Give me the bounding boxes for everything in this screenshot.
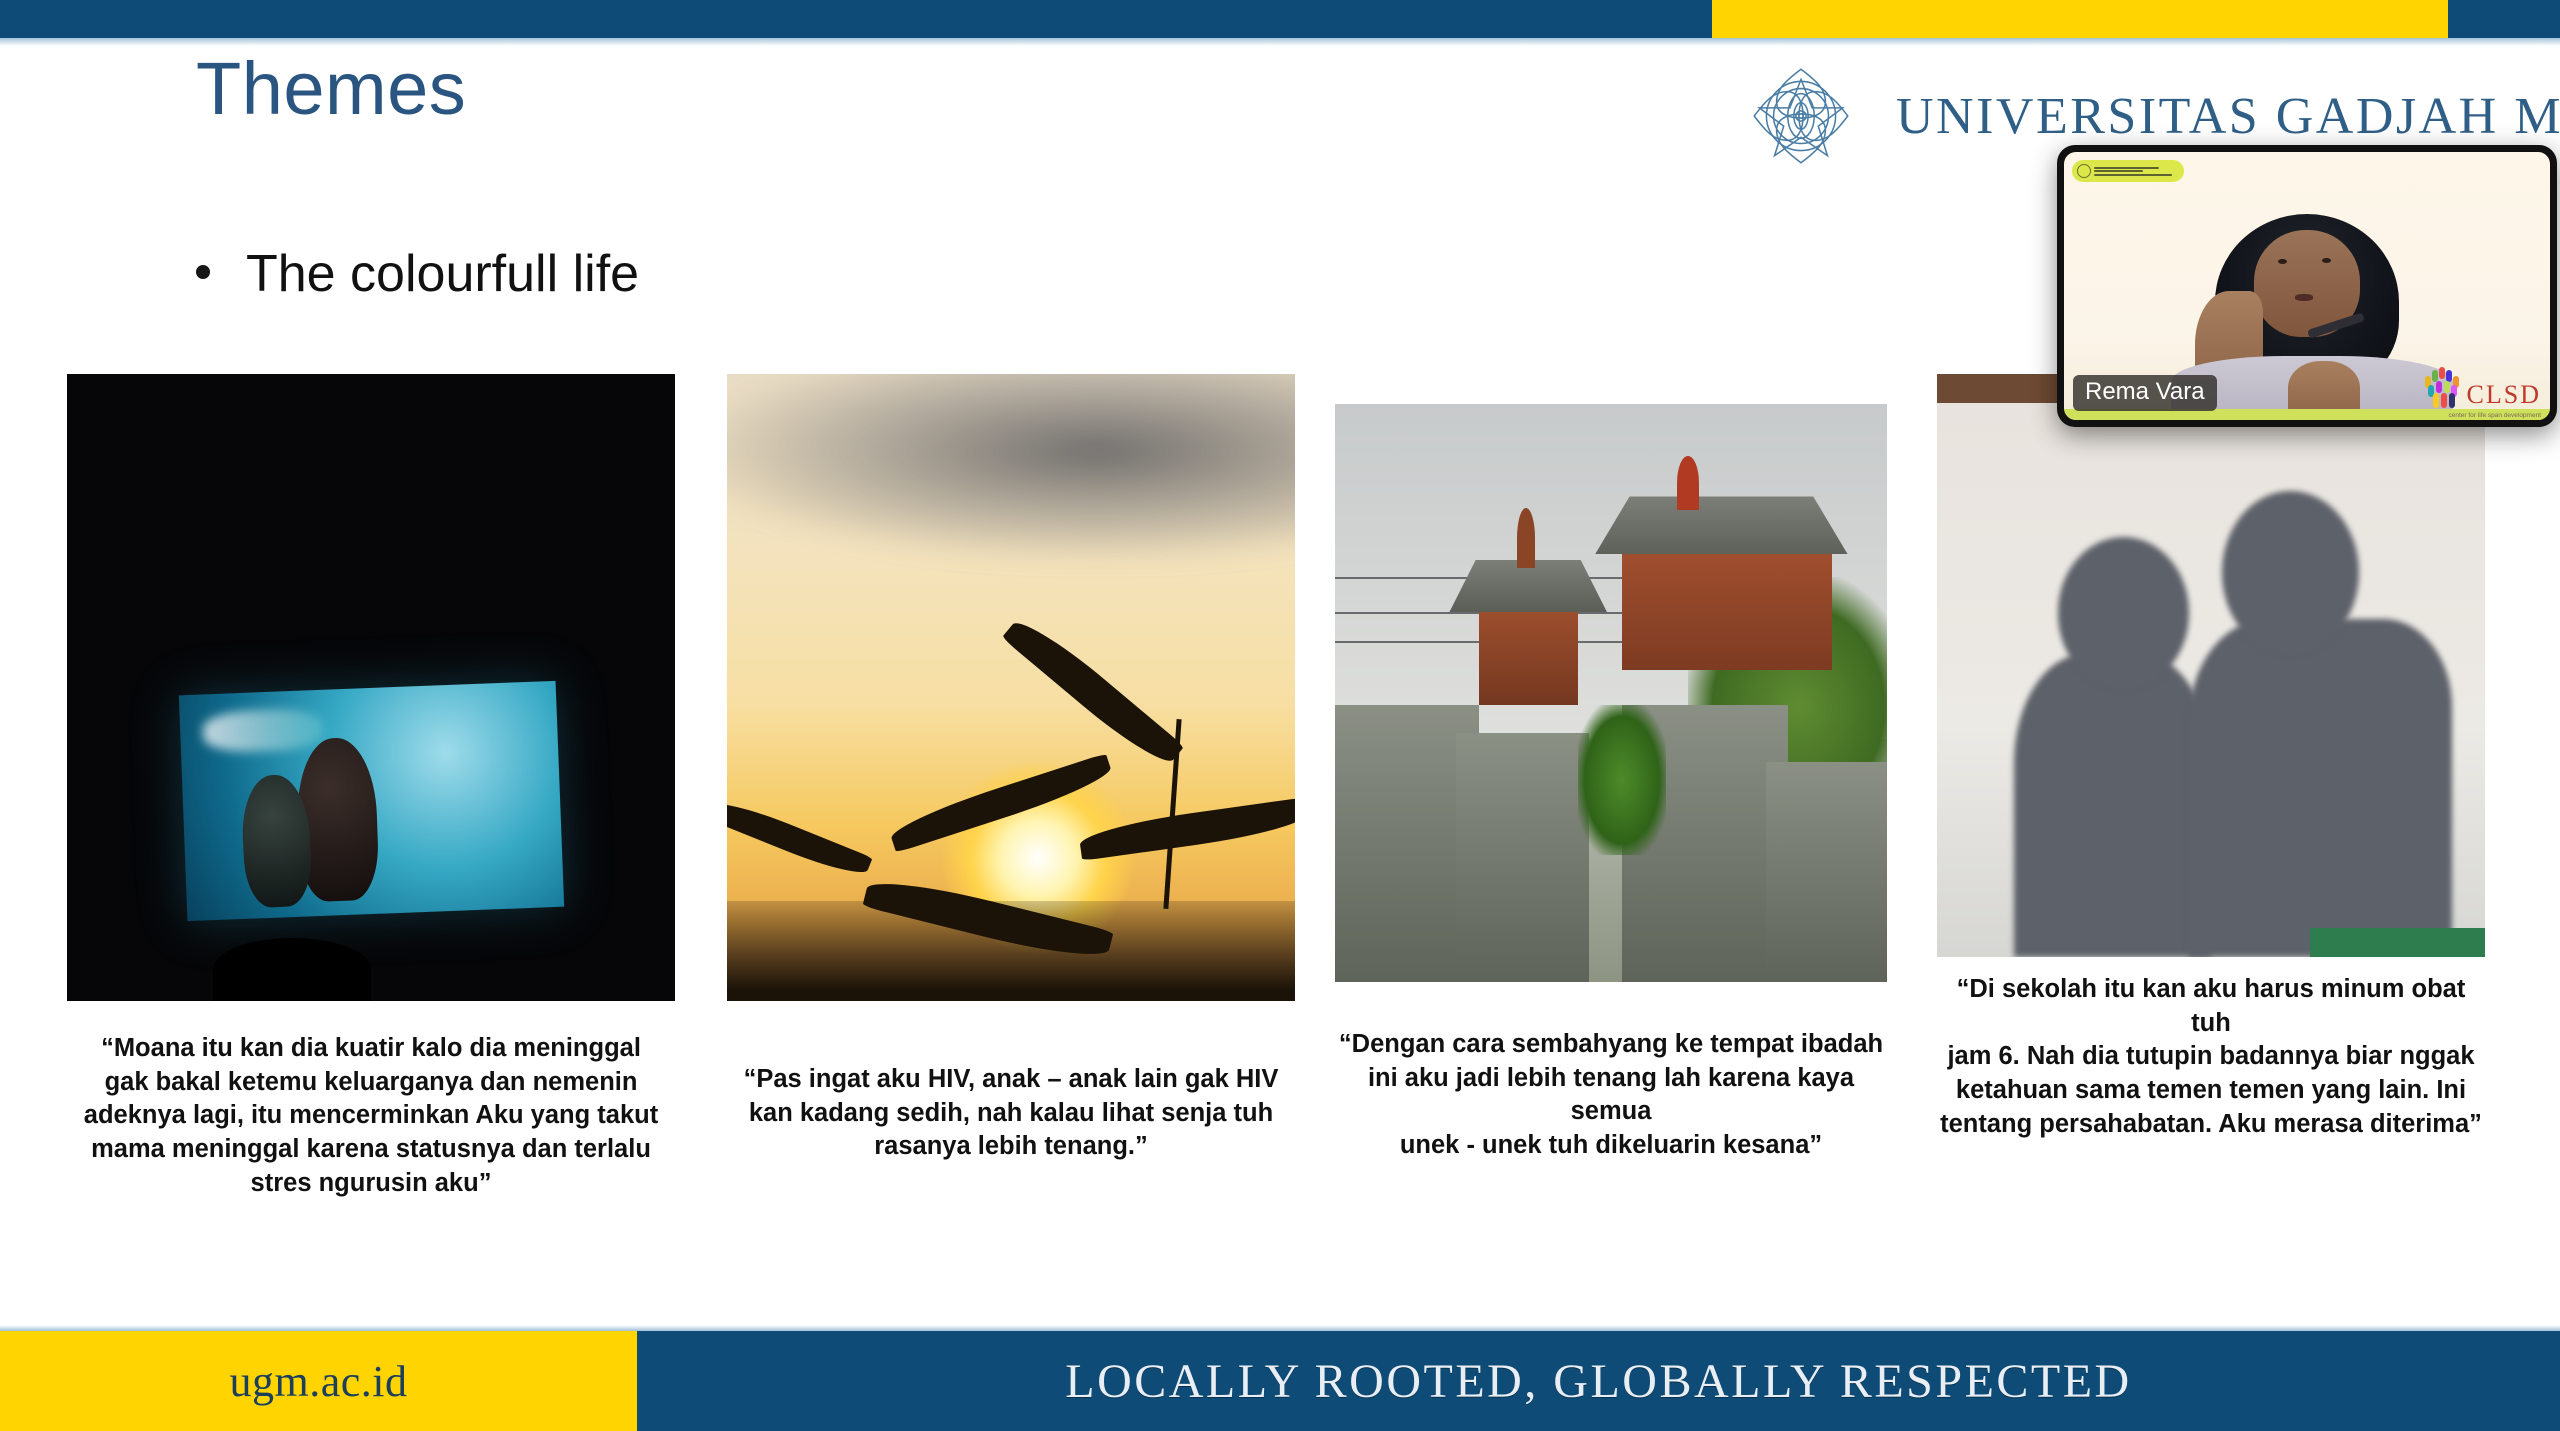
clsd-wordmark: CLSD bbox=[2467, 380, 2541, 409]
shadow-person-right-body bbox=[2189, 619, 2452, 957]
bullet-text: The colourfull life bbox=[246, 248, 639, 300]
webcam-overlay[interactable]: Rema Vara CLSD center for life span deve… bbox=[2057, 145, 2557, 427]
stone-shrine bbox=[1766, 762, 1887, 982]
participant-mouth bbox=[2295, 294, 2313, 301]
roof-spire bbox=[1517, 508, 1535, 568]
photo-balinese-temple bbox=[1335, 404, 1887, 982]
ugm-wordmark: UNIVERSITAS GADJAH MADA bbox=[1896, 87, 2560, 146]
photo-caption: “Moana itu kan dia kuatir kalo dia menin… bbox=[67, 1032, 675, 1200]
top-bar-blue-left bbox=[0, 0, 1712, 38]
shadow-person-left-head bbox=[2058, 537, 2190, 689]
sunset-scene-illustration bbox=[727, 374, 1295, 1001]
footer-url[interactable]: ugm.ac.id bbox=[0, 1331, 637, 1431]
shadow-scene-illustration bbox=[1937, 374, 2485, 957]
footer-tagline: LOCALLY ROOTED, GLOBALLY RESPECTED bbox=[637, 1331, 2560, 1431]
photo-two-shadows bbox=[1937, 374, 2485, 957]
participant-eye-right bbox=[2322, 258, 2331, 263]
bullet-row: The colourfull life bbox=[196, 248, 639, 300]
temple-scene-illustration bbox=[1335, 404, 1887, 982]
shadow-person-right-head bbox=[2222, 491, 2359, 654]
shadow-person-left-body bbox=[2014, 654, 2211, 957]
top-bar-shadow bbox=[0, 38, 2560, 46]
photo-caption: “Di sekolah itu kan aku harus minum obat… bbox=[1937, 973, 2485, 1141]
top-accent-bar bbox=[0, 0, 2560, 38]
cloud-shape bbox=[727, 374, 1295, 562]
clsd-subtitle: center for life span development bbox=[2449, 412, 2542, 419]
slide-footer: ugm.ac.id LOCALLY ROOTED, GLOBALLY RESPE… bbox=[0, 1331, 2560, 1431]
photo-caption: “Dengan cara sembahyang ke tempat ibadah… bbox=[1335, 1028, 1887, 1163]
foreground-foliage bbox=[727, 901, 1295, 1001]
green-ground-strip bbox=[2310, 928, 2485, 957]
photo-caption: “Pas ingat aku HIV, anak – anak lain gak… bbox=[727, 1063, 1295, 1164]
top-bar-blue-right bbox=[2448, 0, 2560, 38]
participant-name-label: Rema Vara bbox=[2073, 375, 2217, 411]
audience-silhouette bbox=[213, 938, 371, 1001]
cinema-scene-illustration bbox=[67, 374, 675, 1001]
roof-finial bbox=[1677, 456, 1699, 510]
photo-sunset-leaves bbox=[727, 374, 1295, 1001]
webcam-video-feed[interactable]: Rema Vara CLSD center for life span deve… bbox=[2064, 152, 2550, 420]
photo-cinema-moana bbox=[67, 374, 675, 1001]
ugm-crest-icon bbox=[1740, 55, 1862, 177]
bullet-dot-icon bbox=[196, 265, 210, 279]
banana-leaf bbox=[1002, 611, 1185, 772]
page-title: Themes bbox=[196, 52, 466, 126]
green-bush bbox=[1578, 705, 1666, 855]
clsd-tree-icon bbox=[2421, 366, 2465, 408]
clsd-logo: CLSD center for life span development bbox=[2421, 366, 2541, 408]
stone-shrine bbox=[1456, 733, 1588, 982]
shrine-body-small bbox=[1479, 612, 1578, 704]
shrine-body-large bbox=[1622, 554, 1832, 670]
clsd-text-block: CLSD center for life span development bbox=[2467, 383, 2541, 408]
wall-trim bbox=[1937, 374, 2069, 403]
top-bar-yellow bbox=[1712, 0, 2448, 38]
banana-leaf bbox=[727, 795, 873, 883]
